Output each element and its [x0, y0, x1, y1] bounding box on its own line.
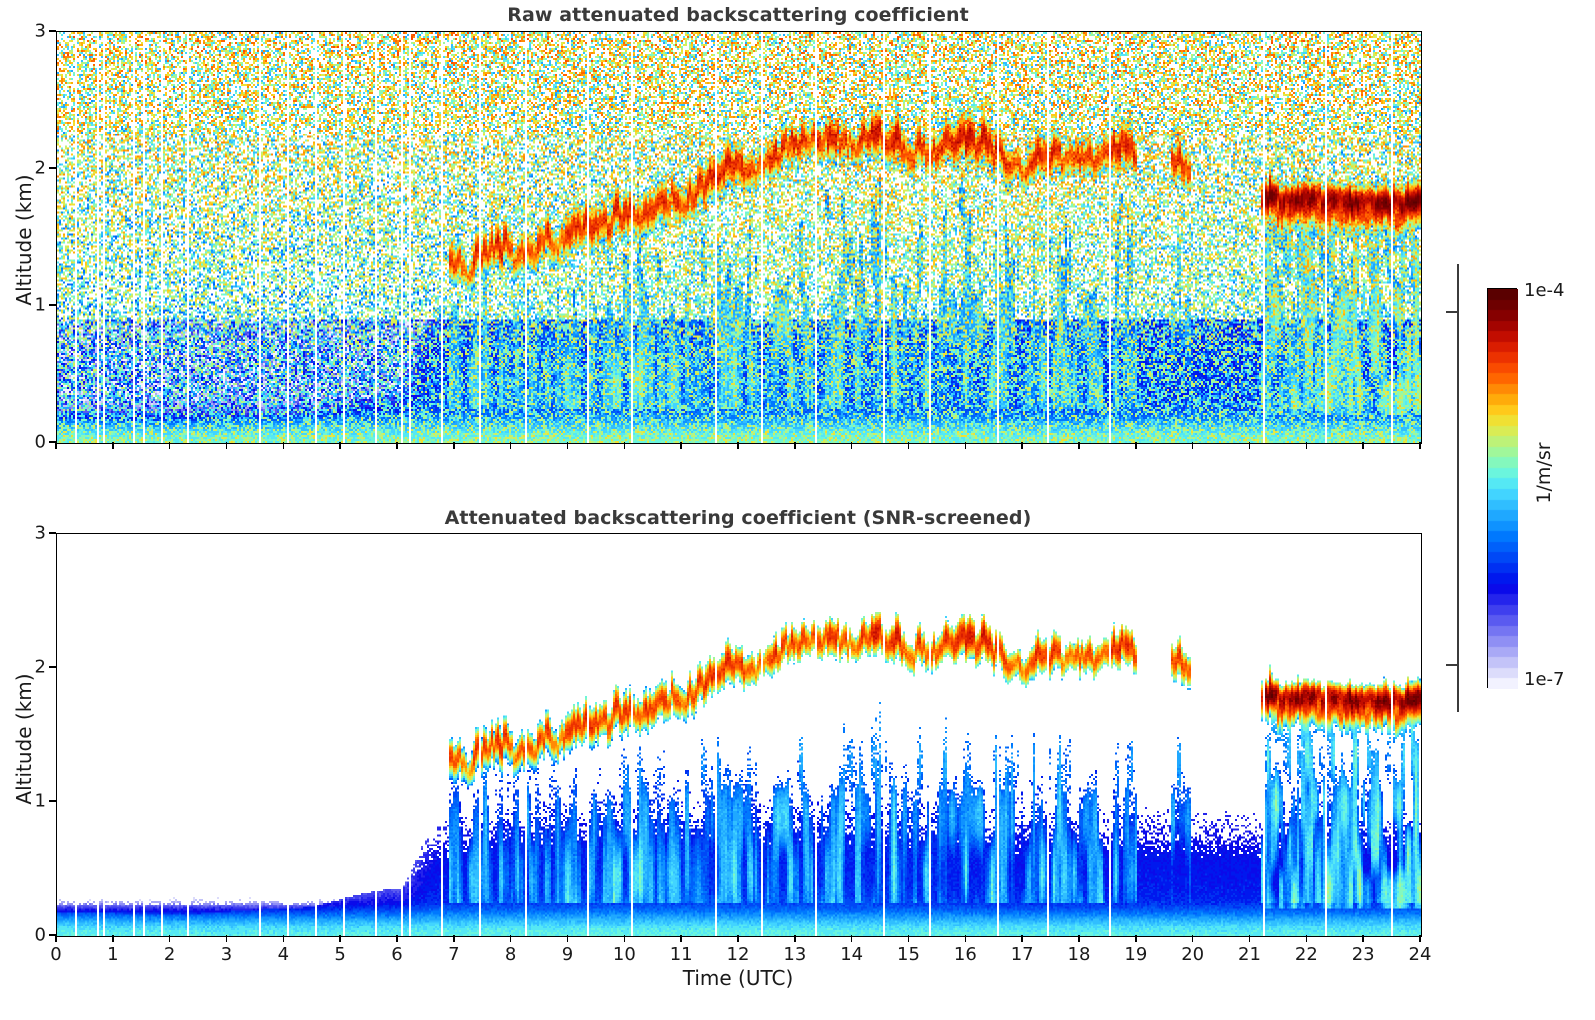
x-tick-label-16: 16: [954, 944, 977, 965]
y-tick-label-top-0: 0: [12, 432, 46, 453]
x-tick-bot-9: [567, 935, 568, 942]
colorbar-spine-tick-lower: [1446, 664, 1457, 666]
x-tick-label-23: 23: [1352, 944, 1375, 965]
x-tick-label-19: 19: [1124, 944, 1147, 965]
x-tick-label-7: 7: [448, 944, 459, 965]
y-tick-label-top-3: 3: [12, 21, 46, 42]
x-tick-label-0: 0: [50, 944, 61, 965]
x-tick-top-7: [453, 442, 454, 449]
x-tick-top-3: [226, 442, 227, 449]
x-tick-bot-10: [624, 935, 625, 942]
x-tick-label-8: 8: [505, 944, 516, 965]
x-tick-top-17: [1021, 442, 1022, 449]
y-tick-top-0: [49, 441, 56, 442]
x-tick-top-18: [1078, 442, 1079, 449]
x-tick-bot-18: [1078, 935, 1079, 942]
colorbar-unit-label: 1/m/sr: [1533, 383, 1555, 563]
heatmap-raw-canvas: [57, 32, 1421, 443]
x-tick-top-10: [624, 442, 625, 449]
x-tick-label-11: 11: [670, 944, 693, 965]
x-tick-top-19: [1135, 442, 1136, 449]
heatmap-screened-canvas: [57, 534, 1421, 936]
x-tick-label-2: 2: [164, 944, 175, 965]
y-tick-top-2: [49, 167, 56, 168]
x-tick-bot-8: [510, 935, 511, 942]
colorbar-spine: [1457, 264, 1459, 712]
x-tick-label-22: 22: [1295, 944, 1318, 965]
colorbar-max-label: 1e-4: [1524, 280, 1564, 301]
x-tick-label-5: 5: [334, 944, 345, 965]
x-tick-top-23: [1362, 442, 1363, 449]
x-tick-bot-4: [283, 935, 284, 942]
x-tick-bot-0: [55, 935, 56, 942]
x-tick-label-10: 10: [613, 944, 636, 965]
x-tick-bot-23: [1362, 935, 1363, 942]
x-tick-bot-19: [1135, 935, 1136, 942]
x-tick-bot-22: [1306, 935, 1307, 942]
colorbar-min-label: 1e-7: [1524, 669, 1564, 690]
figure-canvas: Raw attenuated backscattering coefficien…: [0, 0, 1595, 1020]
x-tick-label-12: 12: [727, 944, 750, 965]
x-tick-label-20: 20: [1181, 944, 1204, 965]
y-tick-label-top-2: 2: [12, 158, 46, 179]
x-tick-bot-17: [1021, 935, 1022, 942]
y-tick-top-3: [49, 30, 56, 31]
x-tick-bot-14: [851, 935, 852, 942]
panel-title-screened: Attenuated backscattering coefficient (S…: [56, 507, 1420, 529]
x-tick-bot-1: [112, 935, 113, 942]
x-tick-top-24: [1419, 442, 1420, 449]
y-tick-label-bot-0: 0: [12, 925, 46, 946]
x-tick-label-9: 9: [562, 944, 573, 965]
x-tick-label-17: 17: [1011, 944, 1034, 965]
x-tick-top-9: [567, 442, 568, 449]
x-tick-bot-16: [965, 935, 966, 942]
x-tick-top-16: [965, 442, 966, 449]
heatmap-screened[interactable]: [56, 533, 1422, 937]
panel-title-raw: Raw attenuated backscattering coefficien…: [56, 4, 1420, 26]
y-tick-bot-3: [49, 532, 56, 533]
x-tick-top-20: [1192, 442, 1193, 449]
x-tick-top-1: [112, 442, 113, 449]
x-tick-label-6: 6: [391, 944, 402, 965]
x-tick-label-3: 3: [221, 944, 232, 965]
x-tick-top-4: [283, 442, 284, 449]
x-tick-bot-13: [794, 935, 795, 942]
colorbar-canvas: [1488, 289, 1518, 689]
x-tick-top-21: [1249, 442, 1250, 449]
x-tick-label-18: 18: [1068, 944, 1091, 965]
x-tick-bot-11: [680, 935, 681, 942]
x-tick-label-14: 14: [840, 944, 863, 965]
x-tick-label-24: 24: [1409, 944, 1432, 965]
x-tick-bot-7: [453, 935, 454, 942]
x-tick-bot-2: [169, 935, 170, 942]
x-tick-bot-12: [737, 935, 738, 942]
y-tick-bot-0: [49, 934, 56, 935]
y-tick-top-1: [49, 304, 56, 305]
x-tick-top-8: [510, 442, 511, 449]
colorbar[interactable]: [1487, 288, 1517, 688]
x-tick-top-0: [55, 442, 56, 449]
x-tick-label-4: 4: [278, 944, 289, 965]
y-tick-label-bot-1: 1: [12, 791, 46, 812]
x-tick-top-15: [908, 442, 909, 449]
x-tick-bot-21: [1249, 935, 1250, 942]
x-tick-top-22: [1306, 442, 1307, 449]
x-tick-bot-6: [396, 935, 397, 942]
x-tick-top-6: [396, 442, 397, 449]
heatmap-raw[interactable]: [56, 31, 1422, 444]
x-tick-bot-20: [1192, 935, 1193, 942]
x-tick-top-2: [169, 442, 170, 449]
x-tick-bot-3: [226, 935, 227, 942]
x-tick-label-1: 1: [107, 944, 118, 965]
x-tick-label-21: 21: [1238, 944, 1261, 965]
x-axis-label: Time (UTC): [0, 966, 1476, 990]
x-tick-top-14: [851, 442, 852, 449]
x-tick-top-5: [339, 442, 340, 449]
colorbar-gradient: [1487, 288, 1517, 688]
y-tick-bot-2: [49, 666, 56, 667]
x-tick-bot-5: [339, 935, 340, 942]
x-tick-label-13: 13: [783, 944, 806, 965]
y-tick-label-bot-2: 2: [12, 657, 46, 678]
x-tick-bot-24: [1419, 935, 1420, 942]
x-tick-label-15: 15: [897, 944, 920, 965]
y-tick-label-bot-3: 3: [12, 523, 46, 544]
y-tick-label-top-1: 1: [12, 295, 46, 316]
colorbar-spine-tick-upper: [1446, 311, 1457, 313]
x-tick-bot-15: [908, 935, 909, 942]
x-tick-top-12: [737, 442, 738, 449]
y-tick-bot-1: [49, 800, 56, 801]
x-tick-top-13: [794, 442, 795, 449]
x-tick-top-11: [680, 442, 681, 449]
